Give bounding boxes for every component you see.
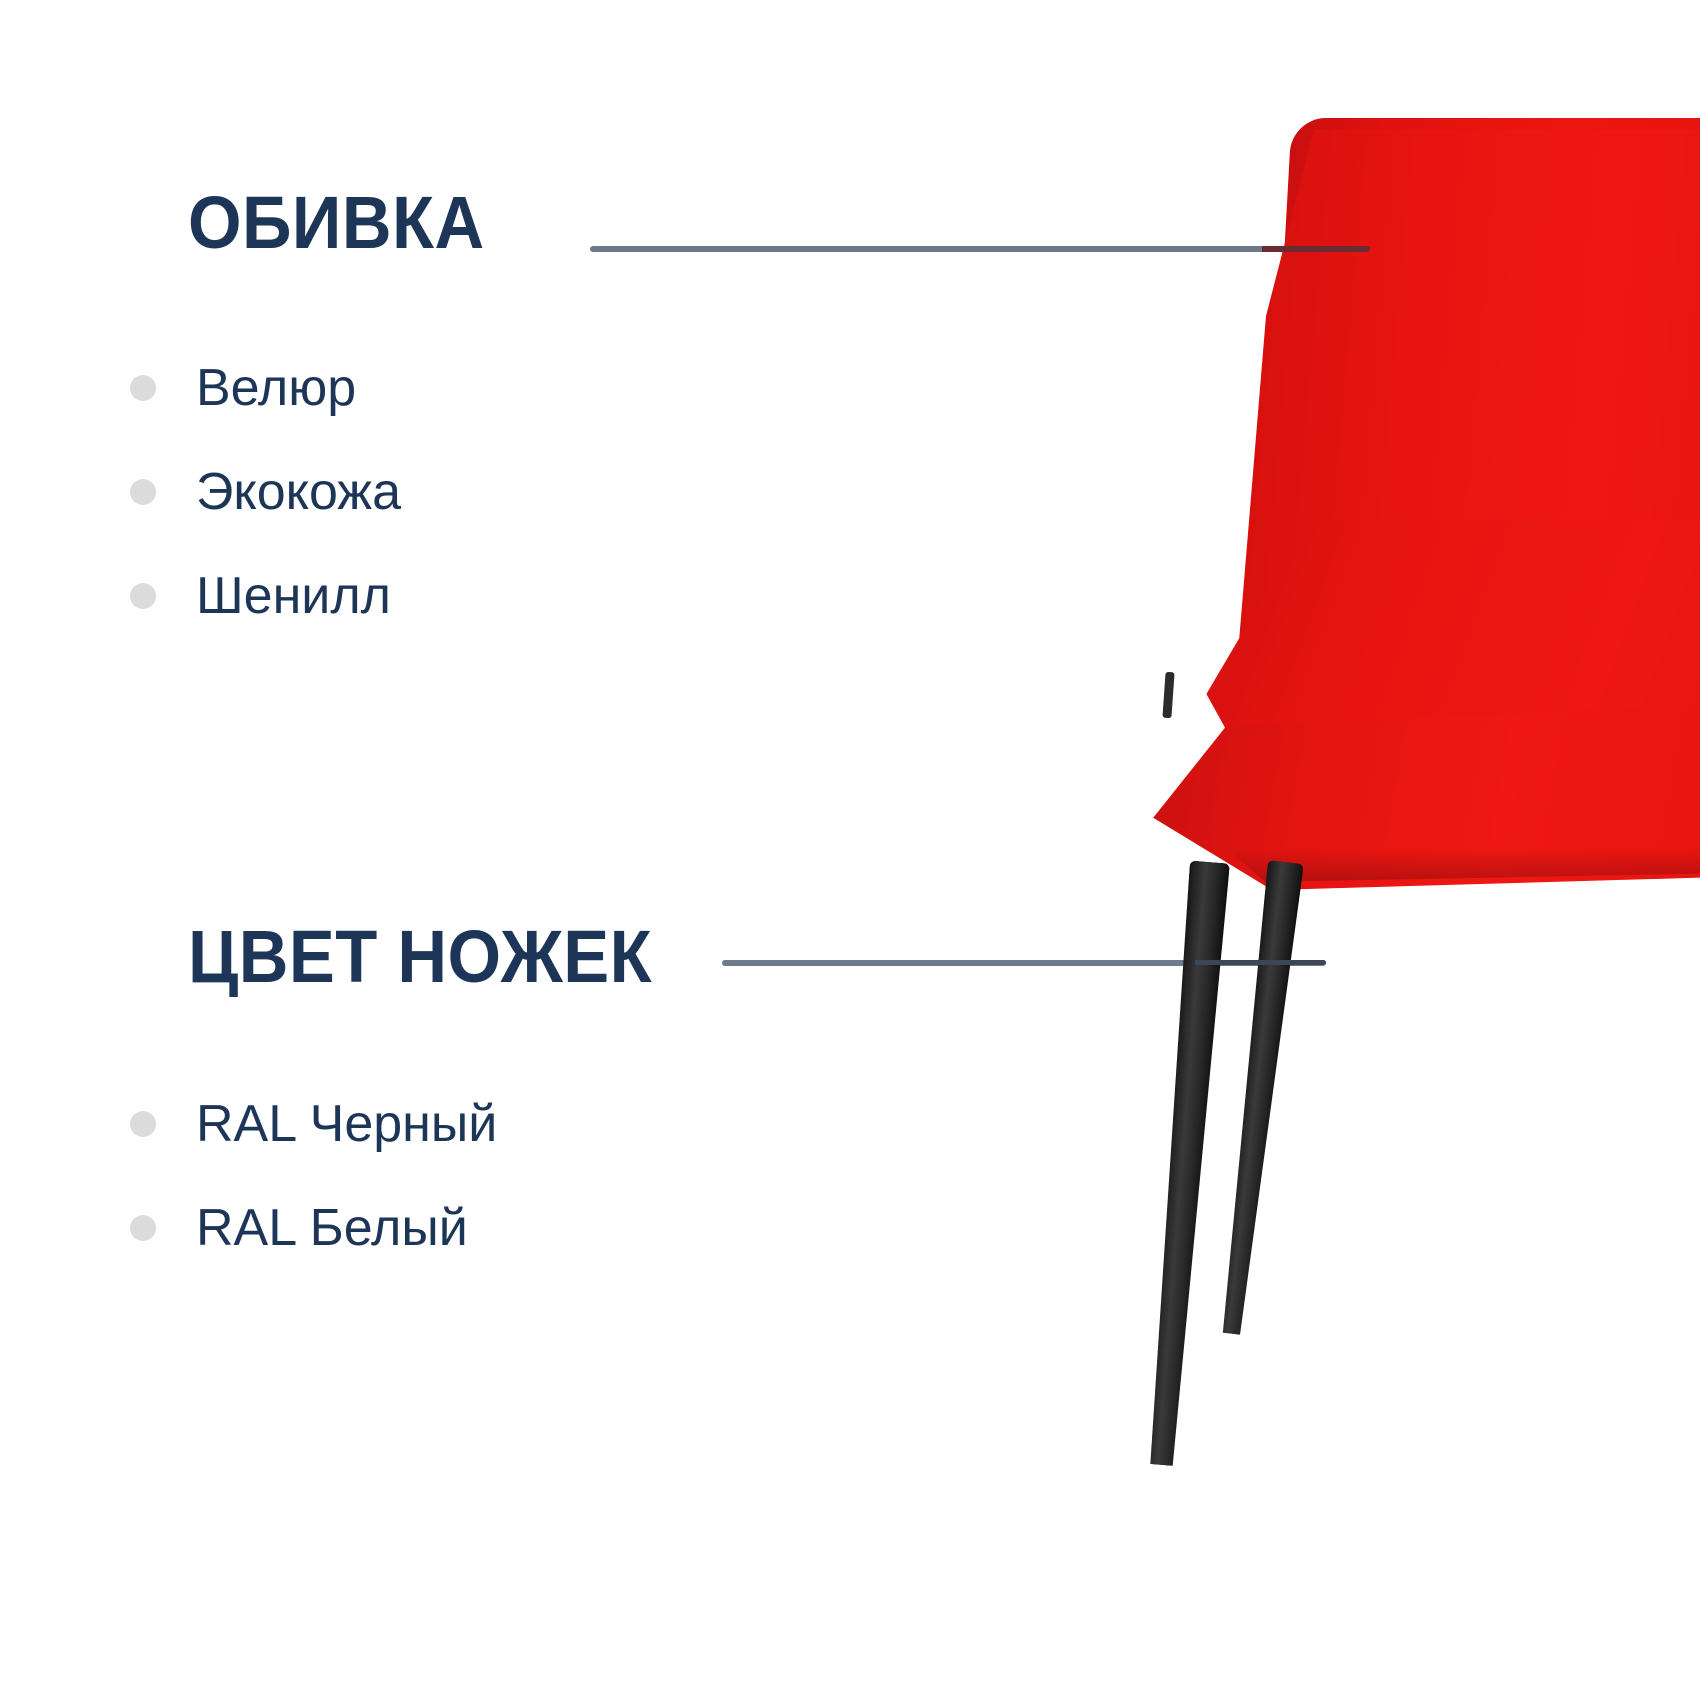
- callout-line-upholstery-overlay: [1262, 246, 1370, 252]
- list-item: Экокожа: [130, 440, 401, 544]
- bullet-label: RAL Белый: [196, 1202, 468, 1254]
- bullet-list-leg-color: RAL Черный RAL Белый: [130, 1072, 497, 1280]
- chair-leg-back: [1214, 860, 1304, 1336]
- bullet-dot-icon: [130, 1111, 156, 1137]
- bullet-label: Шенилл: [196, 570, 391, 622]
- infographic-canvas: ОБИВКА Велюр Экокожа Шенилл ЦВЕТ НОЖЕК R…: [0, 0, 1700, 1700]
- bullet-dot-icon: [130, 583, 156, 609]
- bullet-dot-icon: [130, 1215, 156, 1241]
- list-item: Шенилл: [130, 544, 401, 648]
- section-title-leg-color: ЦВЕТ НОЖЕК: [188, 920, 652, 994]
- bullet-list-upholstery: Велюр Экокожа Шенилл: [130, 336, 401, 648]
- section-title-upholstery: ОБИВКА: [188, 186, 485, 260]
- bullet-label: Велюр: [196, 362, 356, 414]
- callout-line-leg-color-overlay: [1195, 960, 1326, 965]
- bullet-label: RAL Черный: [196, 1098, 497, 1150]
- list-item: RAL Черный: [130, 1072, 497, 1176]
- list-item: Велюр: [130, 336, 401, 440]
- bullet-dot-icon: [130, 479, 156, 505]
- chair-leg-front: [1142, 860, 1230, 1466]
- list-item: RAL Белый: [130, 1176, 497, 1280]
- fabric-tag: [1162, 672, 1174, 719]
- bullet-label: Экокожа: [196, 466, 401, 518]
- bullet-dot-icon: [130, 375, 156, 401]
- product-image-chair: [1080, 0, 1700, 1700]
